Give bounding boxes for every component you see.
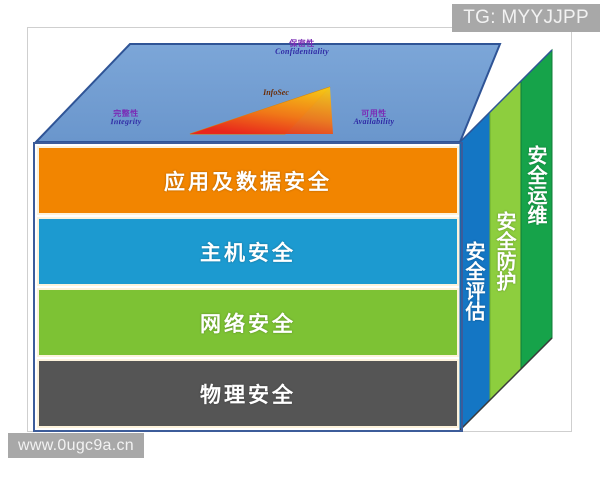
site-watermark: www.0ugc9a.cn: [8, 433, 144, 458]
diagram-canvas: 保密性 Confidentiality 完整性 Integrity 可用性 Av…: [0, 0, 600, 480]
front-layer-network-security[interactable]: [38, 289, 458, 356]
front-layer-host-security[interactable]: [38, 218, 458, 285]
side-panel-security-operations[interactable]: [521, 50, 552, 369]
side-panel-security-assessment[interactable]: [460, 112, 490, 430]
front-layer-group: [38, 147, 458, 427]
telegram-watermark: TG: MYYJJPP: [452, 4, 600, 32]
cube-top-face: [36, 44, 500, 142]
front-layer-physical-security[interactable]: [38, 360, 458, 427]
front-layer-app-data-security[interactable]: [38, 147, 458, 214]
security-model-3d-illustration: [0, 0, 600, 480]
side-panel-security-protection[interactable]: [490, 81, 521, 400]
